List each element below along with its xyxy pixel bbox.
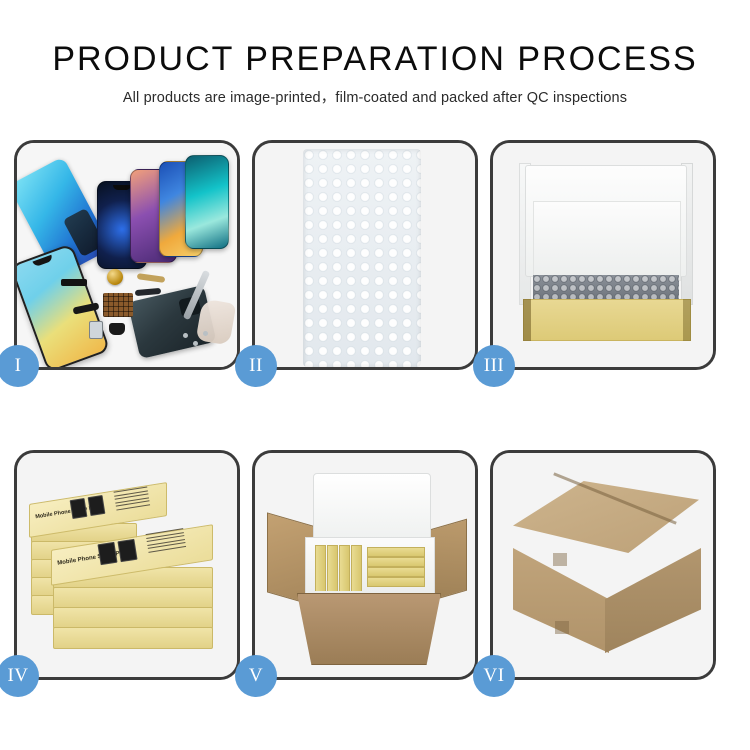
inner-box-icon: [367, 547, 425, 557]
phone-display-fan: [97, 155, 227, 267]
shipping-carton-icon: [297, 593, 441, 665]
process-step-grid: I II III: [14, 140, 736, 680]
box-label-image-icon: [88, 495, 106, 516]
box-label-image-icon: [70, 498, 88, 519]
carton-top-face-icon: [513, 481, 699, 553]
process-step-panel-1: I: [14, 140, 240, 370]
box-stack: Mobile Phone Spare Parts Mobile Phone Sp…: [23, 467, 237, 667]
foam-sheet-icon: [533, 201, 681, 281]
bubble-wrap-icon: [303, 149, 421, 367]
battery-connector-icon: [61, 279, 87, 286]
vibration-motor-icon: [107, 269, 123, 285]
camera-module-icon: [89, 321, 103, 339]
step-5-photo: [255, 453, 475, 677]
step-2-photo: [255, 143, 475, 367]
stacked-box-icon: [53, 587, 213, 609]
inner-boxes-group: [313, 545, 425, 591]
step-badge-3: III: [473, 345, 515, 387]
infographic-page: PRODUCT PREPARATION PROCESS All products…: [0, 0, 750, 750]
inner-box-icon: [367, 557, 425, 567]
screw-icon: [193, 341, 198, 346]
process-step-panel-4: Mobile Phone Spare Parts Mobile Phone Sp…: [14, 450, 240, 680]
step-badge-4: IV: [0, 655, 39, 697]
inner-box-icon: [367, 577, 425, 587]
process-step-panel-2: II: [252, 140, 478, 370]
step-4-photo: Mobile Phone Spare Parts Mobile Phone Sp…: [17, 453, 237, 677]
box-label-image-icon: [117, 539, 137, 562]
stacked-box-icon: [53, 627, 213, 649]
step-6-photo: [493, 453, 713, 677]
process-step-panel-3: III: [490, 140, 716, 370]
inner-box-icon: [367, 567, 425, 577]
page-subtitle: All products are image-printed，film-coat…: [0, 86, 750, 107]
speaker-module-icon: [109, 323, 125, 335]
carton-tape-icon: [553, 553, 567, 566]
screw-icon: [203, 331, 208, 336]
yellow-inner-box-icon: [523, 299, 691, 341]
step-badge-5: V: [235, 655, 277, 697]
inner-box-icon: [315, 545, 326, 591]
process-step-panel-6: VI: [490, 450, 716, 680]
header: PRODUCT PREPARATION PROCESS All products…: [0, 38, 750, 107]
process-step-panel-5: V: [252, 450, 478, 680]
screw-icon: [183, 333, 188, 338]
inner-box-icon: [339, 545, 350, 591]
inner-box-icon: [327, 545, 338, 591]
step-badge-6: VI: [473, 655, 515, 697]
step-badge-2: II: [235, 345, 277, 387]
step-1-photo: [17, 143, 237, 367]
box-label-image-icon: [97, 542, 117, 565]
stacked-box-icon: [53, 607, 213, 629]
inner-box-icon: [351, 545, 362, 591]
step-3-photo: [493, 143, 713, 367]
phone-display-icon: [185, 155, 229, 249]
step-badge-1: I: [0, 345, 39, 387]
page-title: PRODUCT PREPARATION PROCESS: [0, 38, 750, 80]
carton-tape-icon: [555, 621, 569, 634]
bubble-wrap-layer-icon: [533, 275, 679, 301]
chip-grid-icon: [103, 293, 133, 317]
